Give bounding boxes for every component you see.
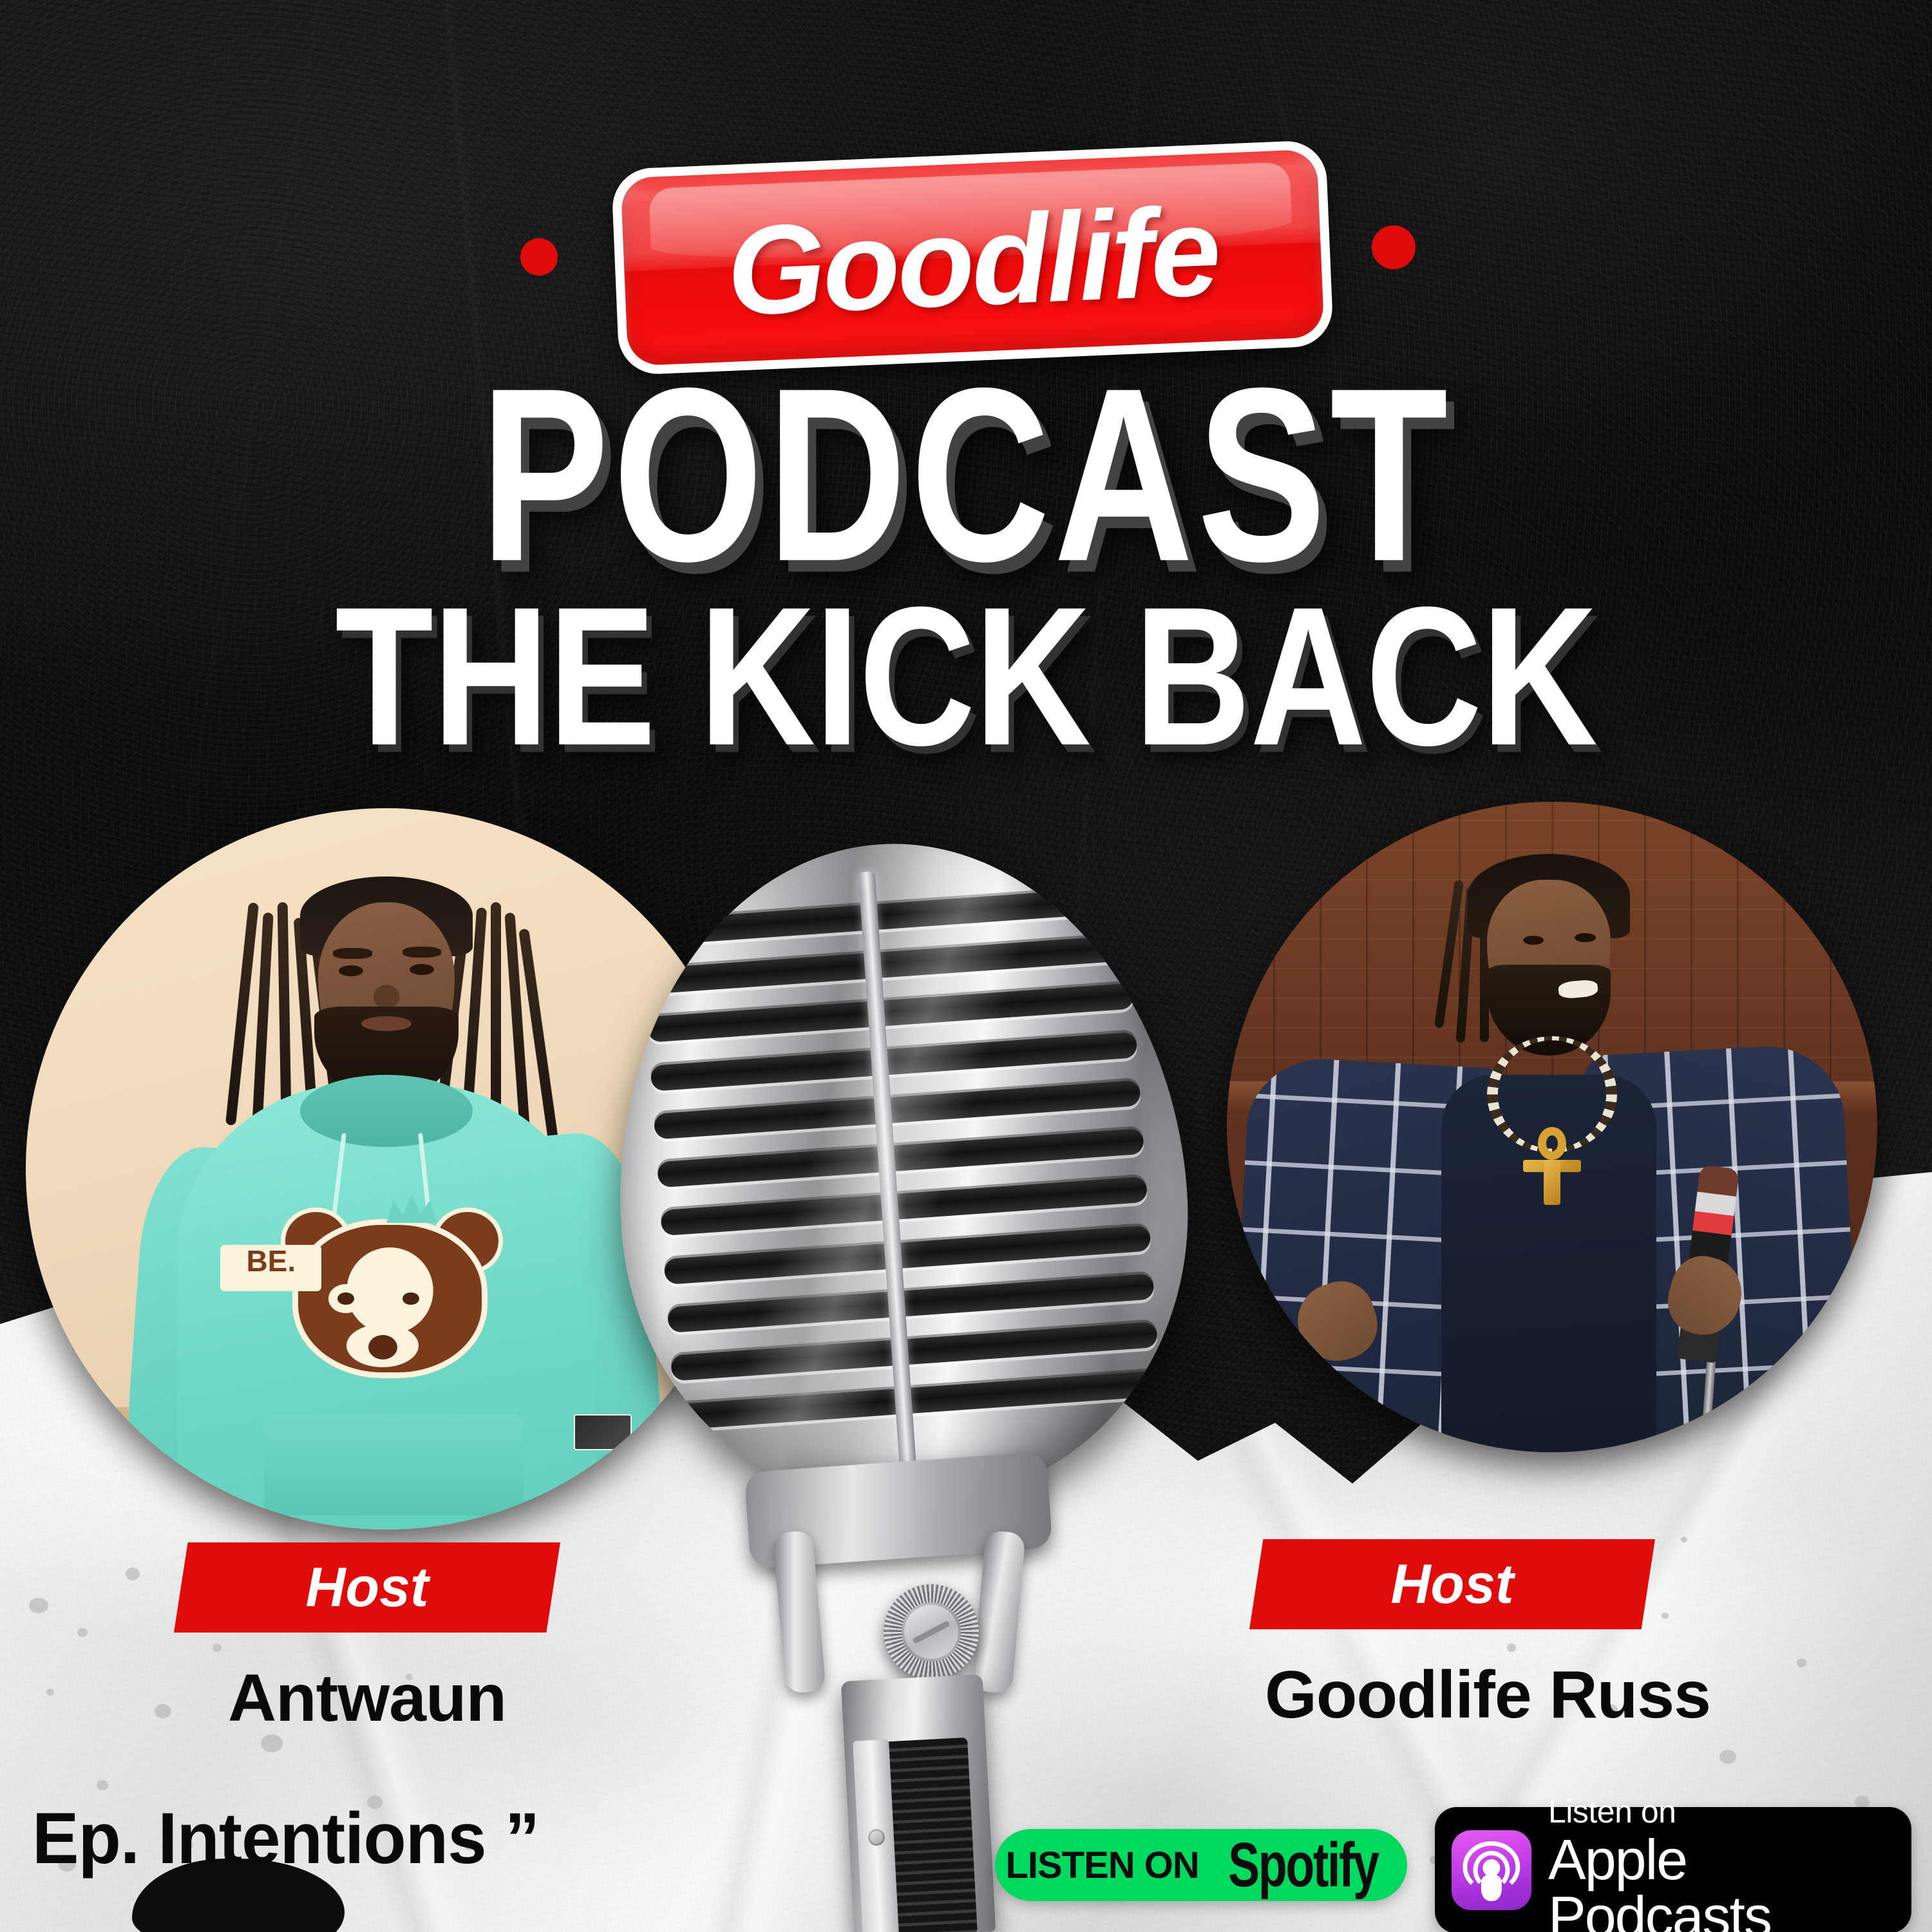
apple-podcasts-listen-badge[interactable]: Listen on Apple Podcasts [1435, 1807, 1911, 1932]
host-name-right: Goodlife Russ [1185, 1662, 1790, 1728]
brand-badge-label: Goodlife [724, 188, 1220, 335]
ankh-pendant [1523, 1127, 1582, 1205]
spotify-listen-badge[interactable]: LISTEN ON Spotify [995, 1829, 1407, 1901]
title-podcast: PODCAST [0, 361, 1932, 588]
host-role-badge-right: Host [1249, 1539, 1655, 1629]
apple-podcasts-icon [1452, 1830, 1531, 1910]
spotify-prefix-label: LISTEN ON [1005, 1844, 1198, 1887]
title-block: Goodlife PODCAST THE KICK BACK [0, 0, 1932, 760]
red-dot-right-icon [1372, 225, 1416, 269]
apple-prefix-label: Listen on [1548, 1795, 1895, 1828]
host-role-badge-left: Host [174, 1542, 560, 1633]
microphone-tilt-knob [884, 1584, 979, 1680]
podcast-cover-artwork: Goodlife PODCAST THE KICK BACK [0, 0, 1932, 1932]
host-role-label-right: Host [1390, 1553, 1513, 1616]
red-dot-left-icon [520, 238, 558, 276]
title-the-kick-back: THE KICK BACK [0, 583, 1932, 770]
host-name-left: Antwaun [64, 1665, 670, 1732]
vintage-microphone [618, 844, 1185, 1932]
episode-title: Ep. Intentions ” [32, 1797, 539, 1880]
host-photo-right [1227, 802, 1877, 1452]
spotify-wordmark: Spotify [1228, 1829, 1378, 1900]
host-role-label-left: Host [305, 1556, 428, 1620]
apple-podcasts-wordmark: Apple Podcasts [1548, 1832, 1895, 1932]
